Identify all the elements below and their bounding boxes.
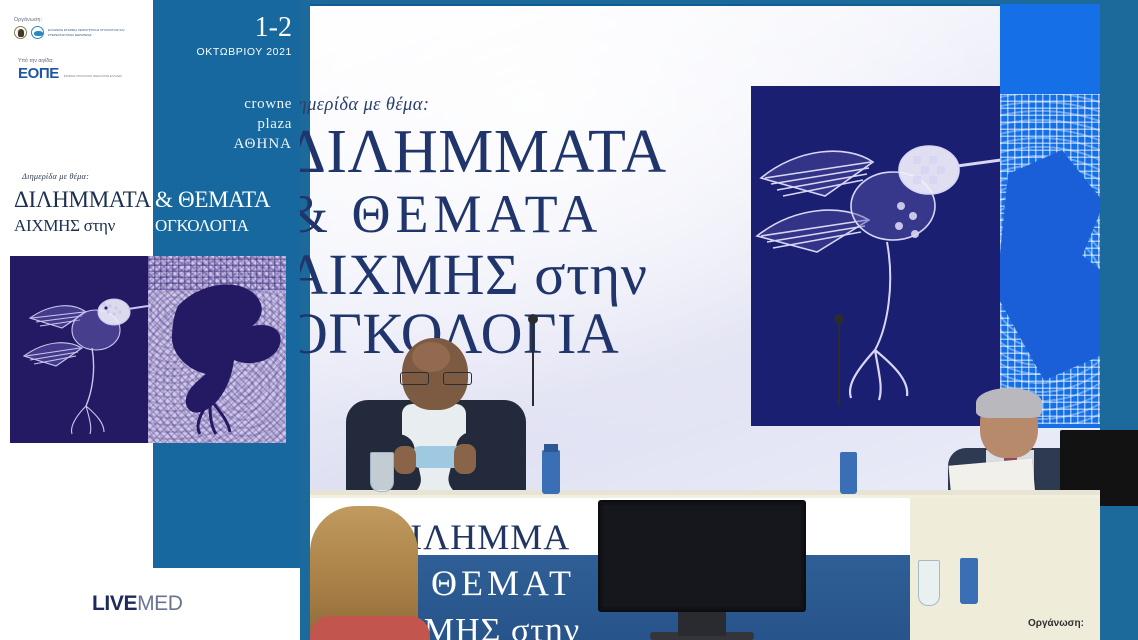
hummingbird-artwork-left xyxy=(10,256,148,443)
eope-wordmark: ΕΟΠΕ xyxy=(18,66,59,81)
poster-title: ΔΙΛΗΜΜΑΤΑ & ΘΕΜΑΤΑ ΑΙΧΜΗΣ στην ΟΓΚΟΛΟΓΙΑ xyxy=(14,186,300,236)
live-video-player[interactable]: ιημερίδα με θέμα: ΔΙΛΗΜΜΑΤΑ & ΘΕΜΑΤΑ ΑΙΧ… xyxy=(300,0,1138,640)
speaker-center-eyeglasses xyxy=(400,372,472,383)
eope-logo: ΕΟΠΕ ΕΤΑΙΡΕΙΑ ΟΓΚΟΛΟΓΩΝ ΠΑΘΟΛΟΓΩΝ ΕΛΛΑΔΑ… xyxy=(18,66,122,81)
society-seal-icon xyxy=(14,26,27,39)
organizer-logos: ΕΛΛΗΝΙΚΗ ΕΤΑΙΡΕΙΑ ΧΕΙΡΟΥΡΓΙΚΗΣ ΟΓΚΟΛΟΓΙΑ… xyxy=(14,26,139,39)
aegis-block: Υπό την αιγίδα: ΕΟΠΕ ΕΤΑΙΡΕΙΑ ΟΓΚΟΛΟΓΩΝ … xyxy=(18,58,122,81)
monitor-screen xyxy=(603,505,801,607)
poster-date-block: 1-2 ΟΚΤΩΒΡΙΟΥ 2021 xyxy=(160,14,292,58)
livemed-med-text: MED xyxy=(137,592,182,615)
conference-poster-panel: Οργάνωση: ΕΛΛΗΝΙΚΗ ΕΤΑΙΡΕΙΑ ΧΕΙΡΟΥΡΓΙΚΗΣ… xyxy=(0,0,300,640)
speaker-center-head-highlight xyxy=(412,342,450,372)
speaker-center-right-hand xyxy=(454,444,476,474)
mic-stand-right xyxy=(838,320,840,406)
hummingbird-artwork-right xyxy=(148,256,286,443)
audience-member-foreground xyxy=(310,506,418,640)
mic-head-left xyxy=(528,314,538,324)
water-glass-left xyxy=(370,452,394,492)
water-bottle-right xyxy=(840,452,857,494)
water-bottle-center xyxy=(542,450,560,494)
mic-stand-left xyxy=(532,320,534,406)
monitor-stand xyxy=(678,612,726,636)
eope-subtext: ΕΤΑΙΡΕΙΑ ΟΓΚΟΛΟΓΩΝ ΠΑΘΟΛΟΓΩΝ ΕΛΛΑΔΑΣ xyxy=(64,75,122,81)
water-bottle-far-right xyxy=(960,558,978,604)
monitor xyxy=(598,500,806,612)
date-day-range: 1-2 xyxy=(160,14,292,42)
mic-head-right xyxy=(834,314,844,324)
poster-title-line1-dark: ΔΙΛΗΜΜΑΤΑ xyxy=(14,186,153,215)
water-glass-right xyxy=(918,560,940,606)
player-root: Οργάνωση: ΕΛΛΗΝΙΚΗ ΕΤΑΙΡΕΙΑ ΧΕΙΡΟΥΡΓΙΚΗΣ… xyxy=(0,0,1138,640)
speaker-right-hair xyxy=(976,388,1042,418)
livemed-live-text: LIVE xyxy=(92,592,137,615)
venue-line-1: crowne xyxy=(160,95,292,115)
organizer-caption: Οργάνωση: xyxy=(1028,618,1084,629)
organizer-logo-text: ΕΛΛΗΝΙΚΗ ΕΤΑΙΡΕΙΑ ΧΕΙΡΟΥΡΓΙΚΗΣ ΟΓΚΟΛΟΓΙΑ… xyxy=(48,28,139,36)
water-bottle-cap-center xyxy=(544,444,558,452)
poster-venue-block: crowne plaza ΑΘΗΝΑ xyxy=(160,95,292,154)
video-right-border xyxy=(1100,0,1138,640)
organizer-label: Οργάνωση: xyxy=(14,17,139,23)
hummingbird-icon xyxy=(10,256,148,443)
hummingbird-silhouette-icon xyxy=(148,256,286,443)
speaker-center xyxy=(340,338,530,503)
stage-banner-dark xyxy=(751,86,1001,426)
poster-title-line2-light: ΟΓΚΟΛΟΓΙΑ xyxy=(153,215,249,236)
society-emblem-icon xyxy=(31,26,44,39)
venue-line-3: ΑΘΗΝΑ xyxy=(160,135,292,155)
poster-title-line2-dark: ΑΙΧΜΗΣ στην xyxy=(14,215,153,236)
poster-title-line1-light: & ΘΕΜΑΤΑ xyxy=(153,186,270,215)
livemed-logo: LIVEMED xyxy=(92,592,183,616)
video-top-border xyxy=(300,0,1138,4)
venue-line-2: plaza xyxy=(160,115,292,135)
hummingbird-banner-icon xyxy=(751,86,1001,426)
date-month-year: ΟΚΤΩΒΡΙΟΥ 2021 xyxy=(160,46,292,58)
aegis-label: Υπό την αιγίδα: xyxy=(18,58,122,64)
stage-banner-blue xyxy=(1000,0,1100,428)
audience-shoulder xyxy=(310,616,430,640)
speaker-center-left-hand xyxy=(394,446,416,474)
organizer-block: Οργάνωση: ΕΛΛΗΝΙΚΗ ΕΤΑΙΡΕΙΑ ΧΕΙΡΟΥΡΓΙΚΗΣ… xyxy=(14,17,139,39)
poster-kicker: Διημερίδα με θέμα: xyxy=(22,172,89,181)
